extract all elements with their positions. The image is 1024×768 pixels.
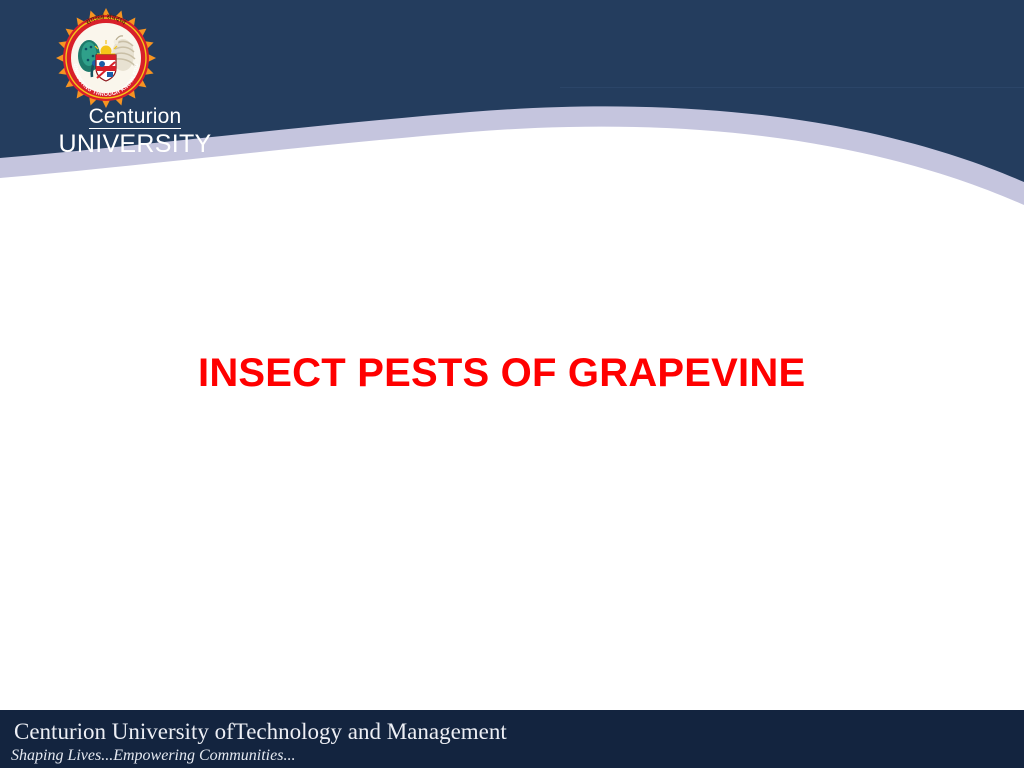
presentation-slide: संगच्ध्वं संवदध्वं bbox=[0, 0, 1024, 768]
slide-footer-bar: Centurion University ofTechnology and Ma… bbox=[0, 708, 1024, 768]
wordmark-centurion: Centurion bbox=[89, 106, 182, 129]
footer-institution-name: Centurion University ofTechnology and Ma… bbox=[14, 719, 507, 745]
slide-content-area: INSECT PESTS OF GRAPEVINE bbox=[0, 260, 1024, 708]
centurion-university-crest-icon: संगच्ध्वं संवदध्वं bbox=[48, 8, 164, 112]
slide-title: INSECT PESTS OF GRAPEVINE bbox=[198, 351, 805, 396]
logo-wordmark: Centurion UNIVERSITY bbox=[40, 106, 230, 157]
wordmark-university: UNIVERSITY bbox=[40, 132, 230, 157]
footer-tagline: Shaping Lives...Empowering Communities..… bbox=[11, 747, 295, 765]
crest-shield bbox=[96, 55, 116, 81]
header-seam-line bbox=[560, 87, 1024, 88]
